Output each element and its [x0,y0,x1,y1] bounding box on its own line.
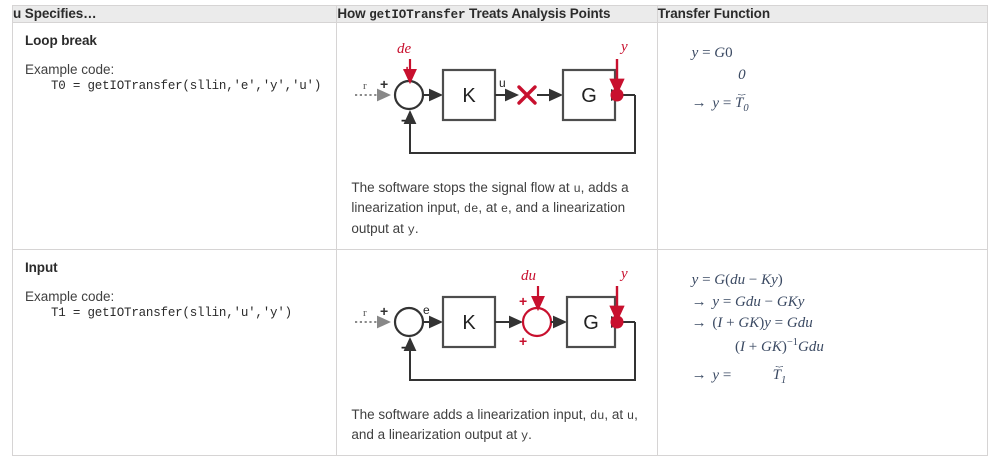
column-header-transfer-function: Transfer Function [657,6,987,23]
block-g-label: G [582,85,598,107]
label-e: e [423,303,430,317]
brace-label: T1 [735,367,824,387]
break-marker-x-icon [519,87,535,103]
row-title: Loop break [25,33,324,48]
implies-arrow-icon: → [692,95,709,111]
desc-mono-u: u [627,409,634,423]
example-code-label: Example code: [25,289,324,304]
column-header-u-specifies: u Specifies… [13,6,337,23]
code-snippet: T1 = getIOTransfer(sllin,'u','y') [51,306,324,320]
equation-line: → (I + GK)y = Gdu [692,313,969,335]
sum-plus-left: + [380,76,388,92]
analysis-point-dot [611,315,624,328]
label-y: y [619,266,628,282]
transfer-equations: y = G0 → y = 0 ⏟ T0 [670,33,975,125]
underbrace-icon: ⏟ [735,89,749,93]
table-row: Loop break Example code: T0 = getIOTrans… [13,23,988,250]
example-code-label: Example code: [25,62,324,77]
label-u: u [499,76,506,90]
block-diagram-loop-break: r + + − de K [349,33,644,172]
label-r: r [363,80,367,92]
sum-plus-left: + [380,303,388,319]
brace-numerator: 0 [738,67,746,83]
code-snippet: T0 = getIOTransfer(sllin,'e','y','u') [51,79,324,93]
label-y: y [619,39,628,55]
brace-label-sub: 1 [781,375,786,386]
equation-line: → y = Gdu − GKy [692,292,969,314]
sum-junction-1 [395,81,423,109]
desc-mono-de: de [464,202,478,216]
implies-arrow-icon: → [692,294,709,310]
label-du: du [521,268,536,284]
sum2-plus-bottom: + [519,333,527,349]
desc-mono-du: du [590,409,604,423]
row-title: Input [25,260,324,275]
block-k-label: K [463,312,477,334]
header-text: Transfer Function [658,6,770,21]
loop-break-svg: r + + − de K [349,37,645,167]
desc-mono-y: y [408,223,415,237]
diagram-description: The software adds a linearization input,… [349,399,644,446]
equation-line-final: → y = (I + GK)−1Gdu ⏟ T1 [692,335,969,387]
cell-diagram-loop-break: r + + − de K [337,23,657,250]
cell-transfer-function-loop-break: y = G0 → y = 0 ⏟ T0 [657,23,987,250]
table-header: u Specifies… How getIOTransfer Treats An… [13,6,988,23]
header-text-prefix: How [337,6,369,21]
desc-mono-u: u [573,182,580,196]
label-de: de [397,41,412,57]
table-row: Input Example code: T1 = getIOTransfer(s… [13,249,988,456]
analysis-point-dot [611,89,624,102]
equation-line: y = G0 [692,43,969,65]
implies-arrow-icon: → [692,367,709,383]
desc-mono-y: y [521,429,528,443]
brace-label: T0 [735,95,749,115]
sum-junction-1 [395,308,423,336]
table-body: Loop break Example code: T0 = getIOTrans… [13,23,988,456]
brace-numerator: (I + GK)−1Gdu [735,339,824,355]
cell-u-specifies-loop-break: Loop break Example code: T0 = getIOTrans… [13,23,337,250]
input-diagram-svg: r + − e K + [349,264,645,394]
cell-diagram-input: r + − e K + [337,249,657,456]
implies-arrow-icon: → [692,315,709,331]
analysis-points-table: u Specifies… How getIOTransfer Treats An… [12,5,988,456]
underbrace-group: 0 ⏟ T0 [735,65,749,115]
equation-line: y = G(du − Ky) [692,270,969,292]
underbrace-group: (I + GK)−1Gdu ⏟ T1 [735,335,824,387]
header-text: u Specifies… [13,6,97,21]
sum-junction-2 [523,308,551,336]
header-code-getiotransfer: getIOTransfer [369,8,465,22]
header-row: u Specifies… How getIOTransfer Treats An… [13,6,988,23]
label-r: r [363,307,367,319]
block-g-label: G [584,312,600,334]
block-diagram-input: r + − e K + [349,260,644,399]
header-text-suffix: Treats Analysis Points [465,6,610,21]
desc-mono-e: e [501,202,508,216]
cell-u-specifies-input: Input Example code: T1 = getIOTransfer(s… [13,249,337,456]
column-header-how-getiotransfer: How getIOTransfer Treats Analysis Points [337,6,657,23]
transfer-equations: y = G(du − Ky) → y = Gdu − GKy → (I + GK… [670,260,975,397]
brace-label-sub: 0 [743,103,748,114]
exponent: −1 [787,337,798,348]
diagram-description: The software stops the signal flow at u,… [349,172,644,239]
equation-line-final: → y = 0 ⏟ T0 [692,65,969,115]
block-k-label: K [463,85,477,107]
sum-minus: − [401,340,410,357]
underbrace-icon: ⏟ [735,361,824,365]
sum-minus: − [401,113,410,130]
sum2-plus-top: + [519,293,527,309]
cell-transfer-function-input: y = G(du − Ky) → y = Gdu − GKy → (I + GK… [657,249,987,456]
